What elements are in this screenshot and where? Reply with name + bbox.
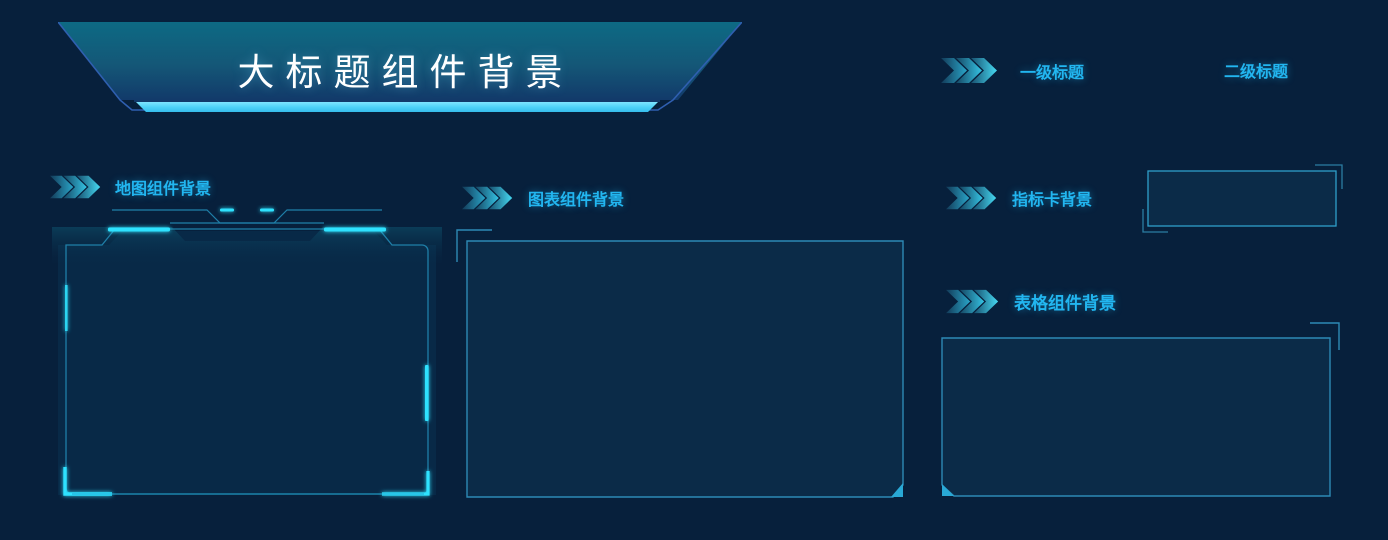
header-primary-title: 一级标题 — [941, 57, 1084, 84]
metric-card-frame — [1140, 163, 1345, 235]
metric-card-panel[interactable] — [1140, 163, 1345, 235]
map-component-panel[interactable] — [52, 205, 442, 505]
section-header-table: 表格组件背景 — [946, 288, 1116, 315]
section-label-table: 表格组件背景 — [1014, 289, 1116, 314]
triple-chevron-icon — [941, 57, 999, 84]
triple-chevron-icon — [946, 288, 1000, 315]
triple-chevron-icon — [946, 185, 998, 211]
section-header-map: 地图组件背景 — [50, 174, 211, 200]
hero-title-text: 大标题组件背景 — [58, 42, 742, 96]
section-label-chart: 图表组件背景 — [528, 186, 624, 210]
chart-component-panel[interactable] — [452, 227, 910, 505]
chart-panel-frame — [452, 227, 910, 505]
table-component-panel[interactable] — [936, 320, 1342, 502]
section-header-chart: 图表组件背景 — [462, 185, 624, 211]
section-label-card: 指标卡背景 — [1012, 186, 1092, 210]
section-header-card: 指标卡背景 — [946, 185, 1092, 211]
header-secondary-label: 二级标题 — [1224, 58, 1288, 82]
table-panel-frame — [936, 320, 1342, 502]
dashboard-canvas: 大标题组件背景 一级标题 二级标题 — [0, 0, 1388, 540]
triple-chevron-icon — [50, 174, 102, 200]
map-panel-frame — [52, 205, 442, 505]
section-label-map: 地图组件背景 — [115, 175, 211, 199]
header-primary-label: 一级标题 — [1020, 59, 1084, 83]
triple-chevron-icon — [462, 185, 514, 211]
hero-title-banner: 大标题组件背景 — [58, 22, 742, 112]
header-secondary-title: 二级标题 — [1224, 58, 1288, 82]
